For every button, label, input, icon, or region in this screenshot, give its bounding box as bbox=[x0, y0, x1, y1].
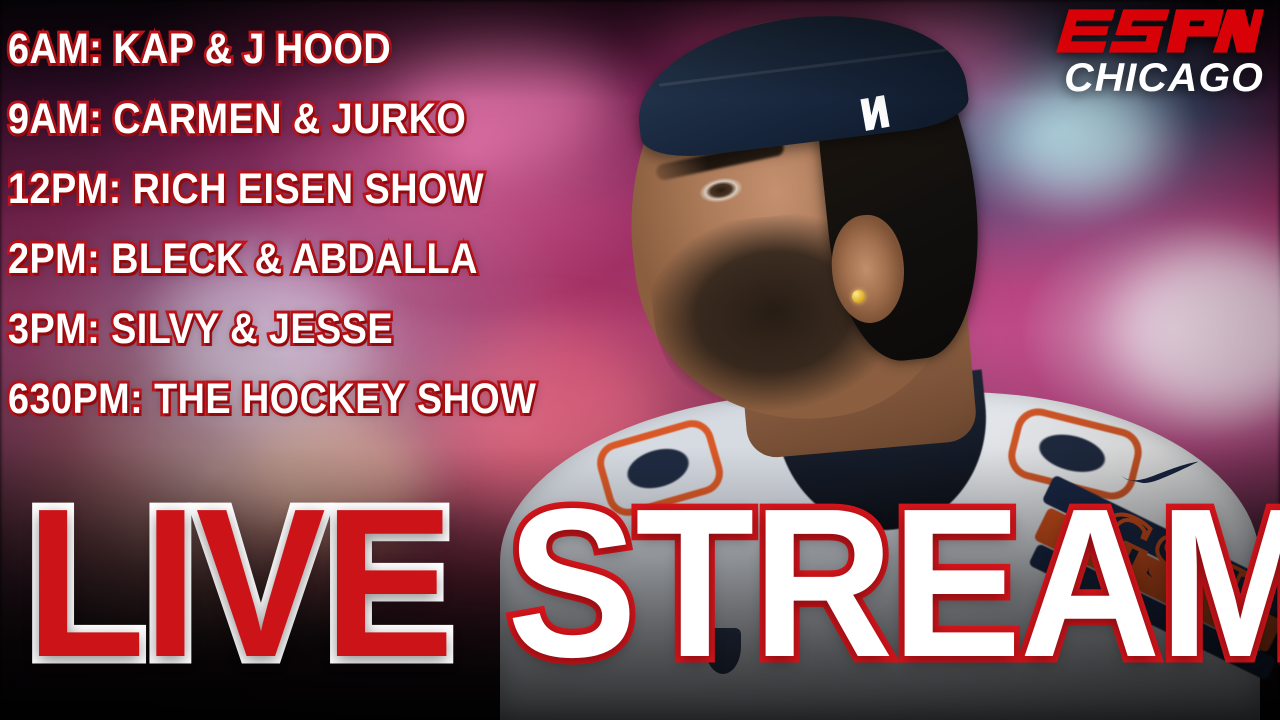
headline-word-live: LIVE bbox=[26, 482, 452, 683]
schedule-item: 3PM: SILVY & JESSE bbox=[8, 294, 501, 364]
headline-word-stream: STREAM bbox=[507, 482, 1280, 683]
market-label: CHICAGO bbox=[1064, 57, 1264, 99]
thumbnail-canvas: GSH 6AM: KAP & J HOOD 9AM: CARMEN & JURK… bbox=[0, 0, 1280, 720]
schedule-item: 6AM: KAP & J HOOD bbox=[8, 14, 501, 84]
schedule-item: 12PM: RICH EISEN SHOW bbox=[8, 154, 501, 224]
schedule-item: 2PM: BLECK & ABDALLA bbox=[8, 224, 501, 294]
schedule-item: 630PM: THE HOCKEY SHOW bbox=[8, 364, 501, 434]
schedule-item: 9AM: CARMEN & JURKO bbox=[8, 84, 501, 154]
espn-wordmark-icon bbox=[1056, 6, 1264, 56]
show-schedule-list: 6AM: KAP & J HOOD 9AM: CARMEN & JURKO 12… bbox=[8, 14, 568, 434]
headline-live-stream: LIVE STREAM bbox=[26, 482, 1280, 683]
espn-chicago-logo: CHICAGO bbox=[1052, 6, 1264, 99]
